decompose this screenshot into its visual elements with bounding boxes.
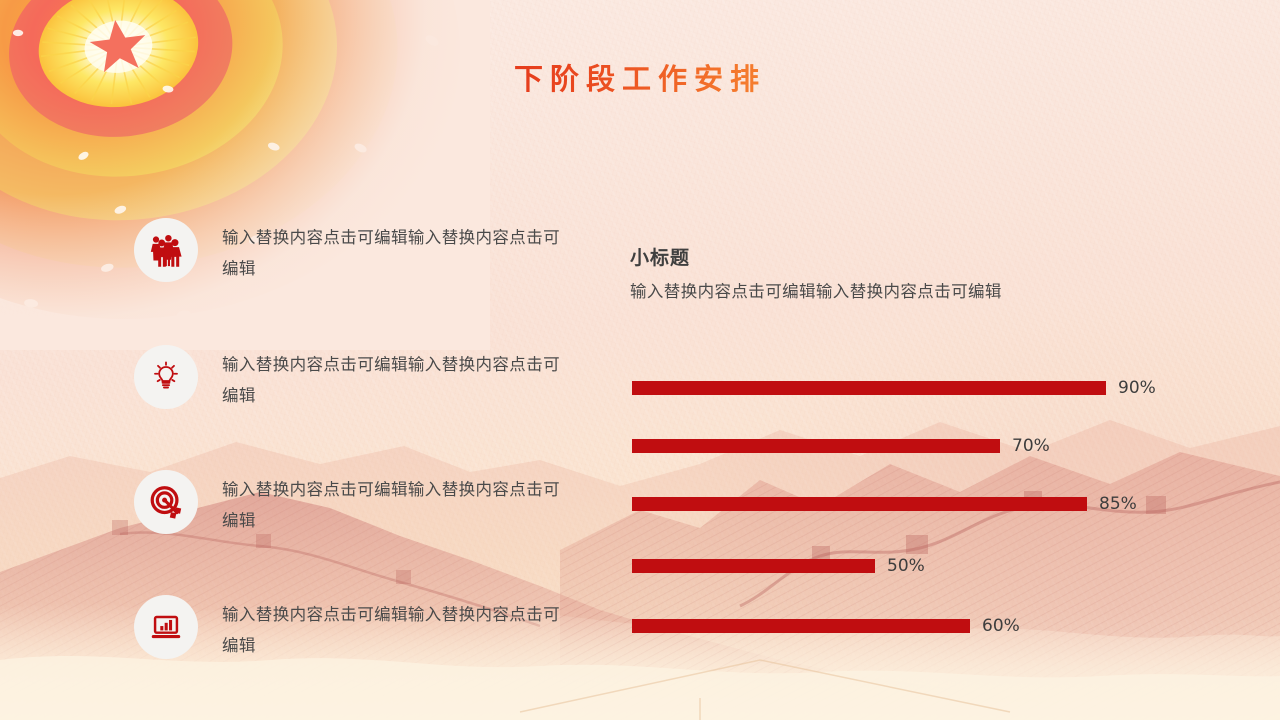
feature-icon-circle <box>134 218 198 282</box>
bar-value-label: 90% <box>1118 378 1156 398</box>
bar-row: 90% <box>632 378 1156 398</box>
bar-fill <box>632 381 1106 395</box>
panel-subtext: 输入替换内容点击可编辑输入替换内容点击可编辑 <box>630 278 1002 302</box>
feature-item-people[interactable]: 输入替换内容点击可编辑输入替换内容点击可编辑 <box>134 214 594 341</box>
feature-item-text: 输入替换内容点击可编辑输入替换内容点击可编辑 <box>222 222 566 284</box>
feature-item-analytics[interactable]: 输入替换内容点击可编辑输入替换内容点击可编辑 <box>134 591 594 716</box>
feature-item-target[interactable]: 输入替换内容点击可编辑输入替换内容点击可编辑 <box>134 466 594 591</box>
bar-fill <box>632 497 1087 511</box>
bar-fill <box>632 439 1000 453</box>
slide-canvas: 下阶段工作安排 <box>0 0 1280 720</box>
lightbulb-idea-icon <box>147 358 185 396</box>
feature-item-text: 输入替换内容点击可编辑输入替换内容点击可编辑 <box>222 599 566 661</box>
bar-value-label: 60% <box>982 616 1020 636</box>
feature-item-text: 输入替换内容点击可编辑输入替换内容点击可编辑 <box>222 349 566 411</box>
feature-item-text: 输入替换内容点击可编辑输入替换内容点击可编辑 <box>222 474 566 536</box>
page-title: 下阶段工作安排 <box>430 56 850 98</box>
bar-value-label: 50% <box>887 556 925 576</box>
bar-row: 85% <box>632 494 1137 514</box>
bar-fill <box>632 619 970 633</box>
panel-heading: 小标题 <box>630 243 690 270</box>
feature-icon-circle <box>134 595 198 659</box>
bar-chart: 90% 70% 85% 50% 60% <box>632 366 1232 656</box>
people-group-icon <box>147 231 185 269</box>
bar-value-label: 85% <box>1099 494 1137 514</box>
bar-value-label: 70% <box>1012 436 1050 456</box>
feature-list: 输入替换内容点击可编辑输入替换内容点击可编辑 输入替换内容点击可编辑输入替换内容… <box>134 214 594 716</box>
feature-item-idea[interactable]: 输入替换内容点击可编辑输入替换内容点击可编辑 <box>134 341 594 466</box>
feature-icon-circle <box>134 345 198 409</box>
laptop-bar-chart-icon <box>147 608 185 646</box>
feature-icon-circle <box>134 470 198 534</box>
bar-row: 50% <box>632 556 925 576</box>
bar-row: 60% <box>632 616 1020 636</box>
bar-row: 70% <box>632 436 1050 456</box>
bar-fill <box>632 559 875 573</box>
target-arrow-icon <box>147 483 185 521</box>
